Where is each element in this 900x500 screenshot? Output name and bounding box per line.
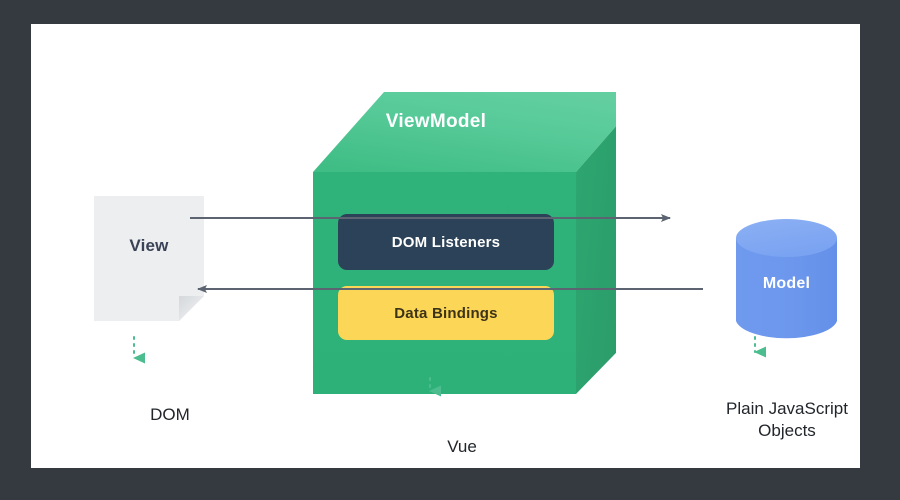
dom-listeners-label: DOM Listeners: [392, 234, 500, 251]
view-document-fold: [179, 296, 204, 321]
view-label: View: [94, 236, 204, 256]
viewmodel-label: ViewModel: [331, 111, 541, 133]
caption-dom: DOM: [109, 404, 231, 426]
data-bindings-box[interactable]: Data Bindings: [338, 286, 554, 340]
cube-front-face: [313, 172, 576, 394]
caption-plain-javascript-objects: Plain JavaScript Objects: [697, 398, 877, 442]
diagram-stage: View: [0, 0, 900, 500]
data-bindings-label: Data Bindings: [394, 305, 497, 322]
model-cylinder-top: [736, 219, 837, 257]
view-node[interactable]: [94, 196, 204, 321]
caption-vue: Vue: [401, 436, 523, 458]
model-label: Model: [734, 275, 839, 293]
dom-listeners-box[interactable]: DOM Listeners: [338, 214, 554, 270]
diagram-canvas: View: [31, 24, 860, 468]
